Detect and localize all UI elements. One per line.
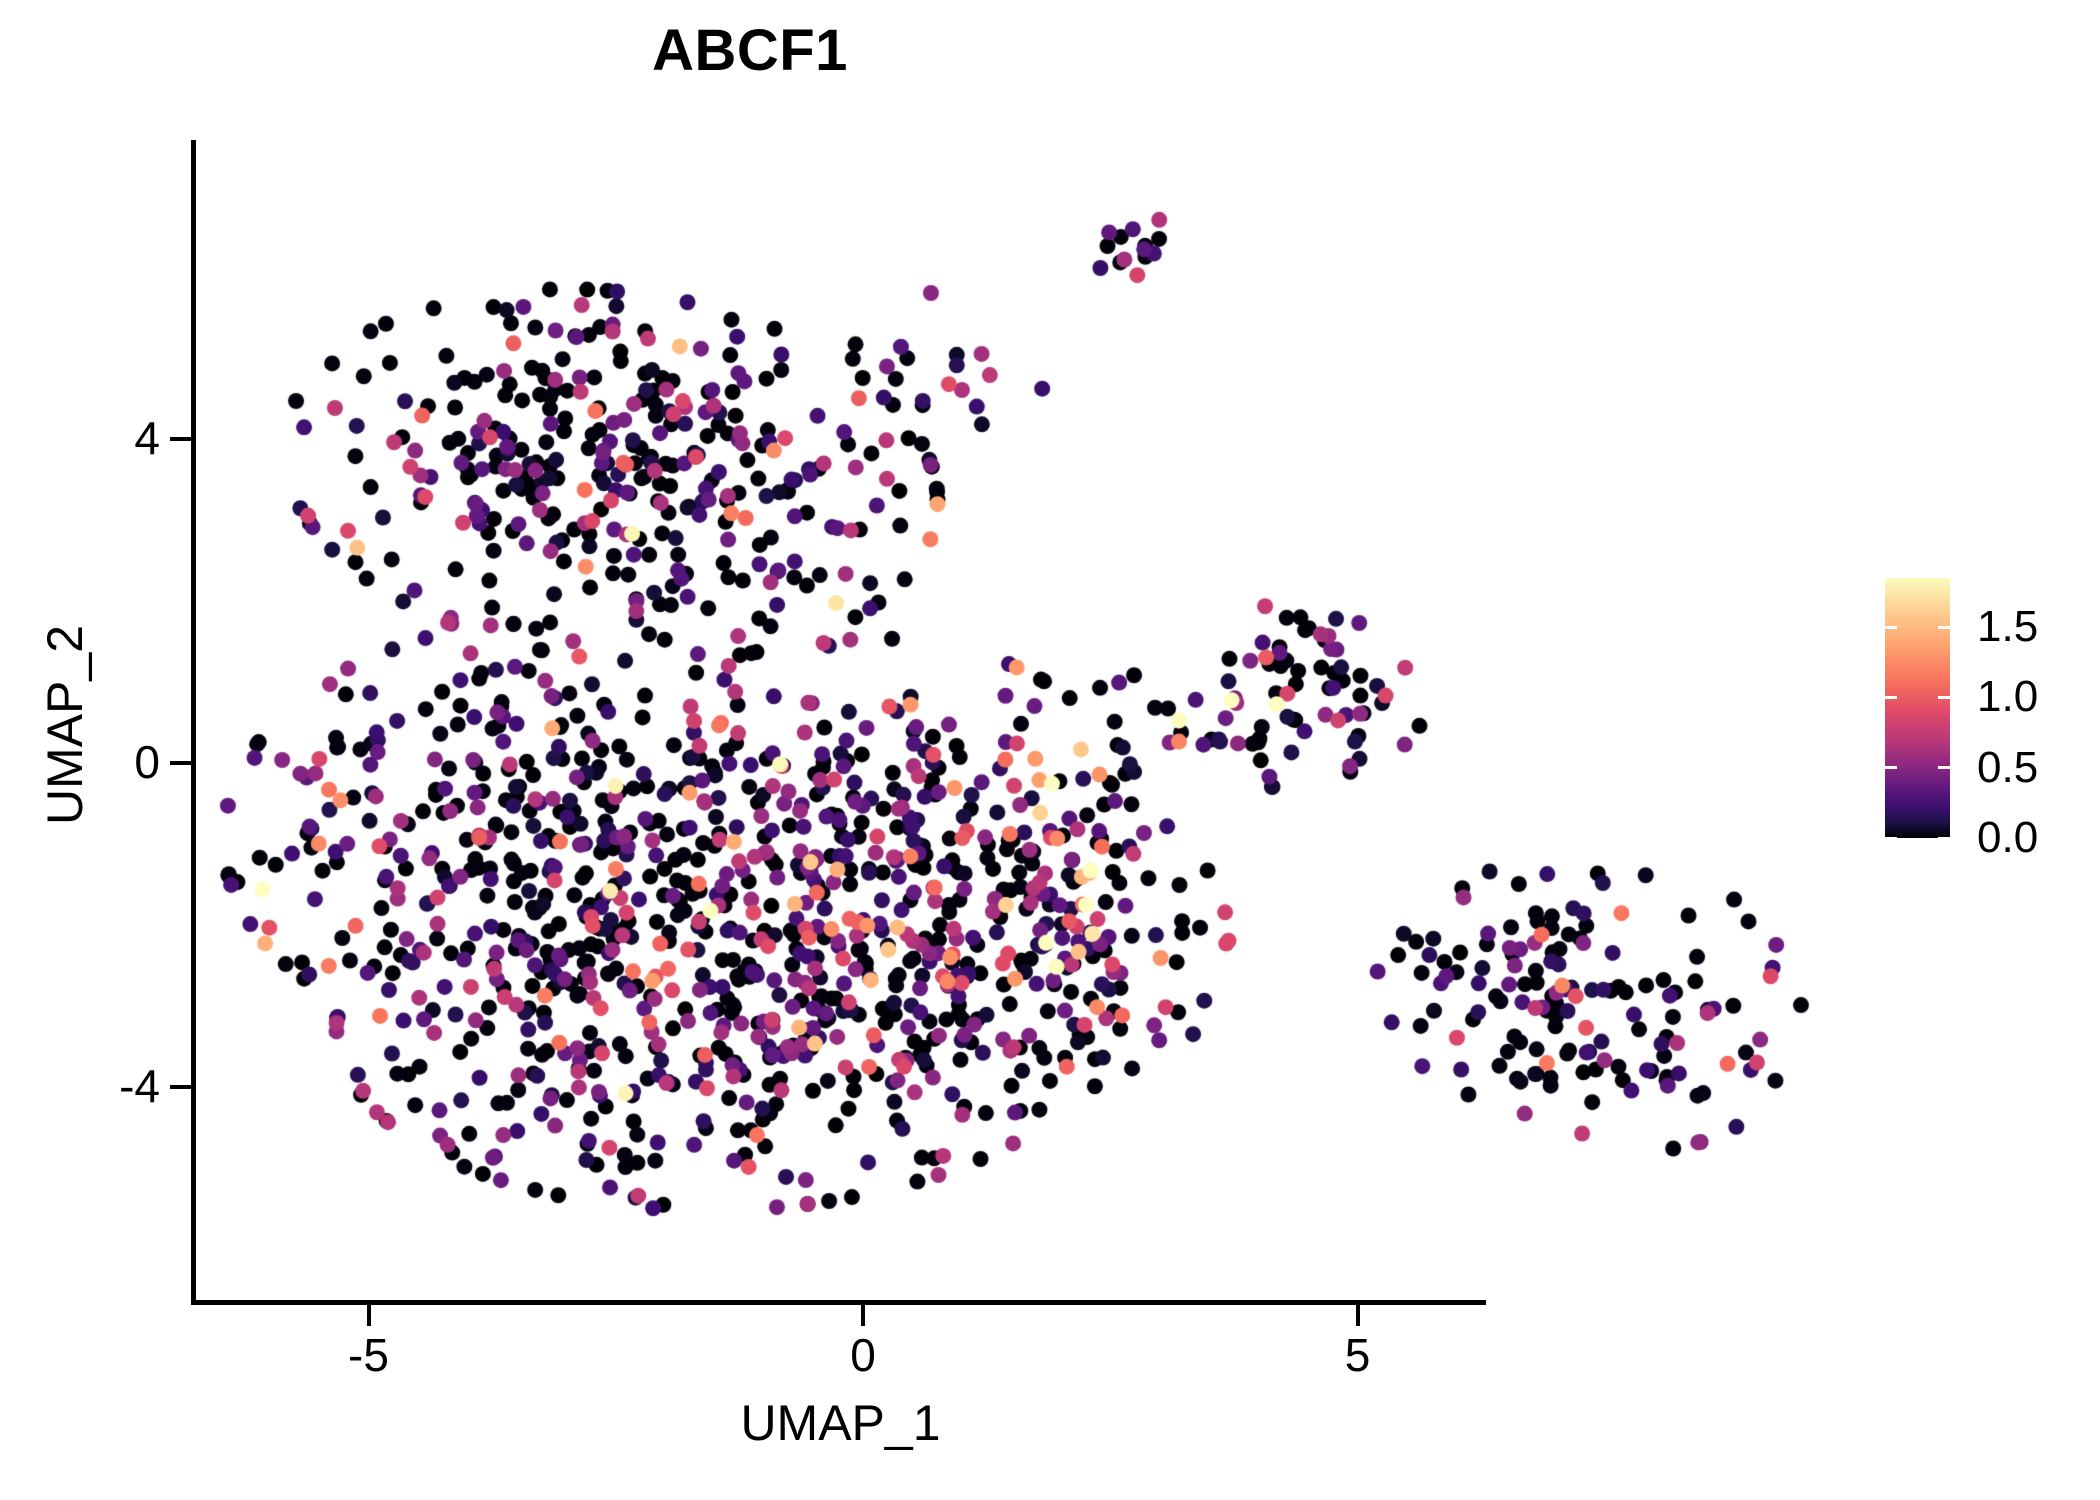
colorbar-gradient bbox=[1885, 578, 1950, 838]
y-axis-tick bbox=[170, 1085, 191, 1089]
x-axis-tick bbox=[1356, 1305, 1360, 1326]
y-axis-tick bbox=[170, 761, 191, 765]
umap-feature-plot: ABCF1 -50540-4 UMAP_1 UMAP_2 1.51.00.50.… bbox=[0, 0, 2100, 1500]
colorbar-tick-label: 1.5 bbox=[1977, 605, 2038, 649]
colorbar-tick-label: 0.0 bbox=[1977, 816, 2038, 860]
colorbar-tick bbox=[1885, 837, 1950, 840]
x-axis-tick-label: 0 bbox=[793, 1332, 933, 1378]
colorbar-tick-label: 1.0 bbox=[1977, 675, 2038, 719]
y-axis-tick bbox=[170, 437, 191, 441]
plot-panel bbox=[193, 140, 1893, 1302]
colorbar-tick bbox=[1885, 766, 1950, 769]
x-axis-tick-label: -5 bbox=[299, 1332, 439, 1378]
colorbar-tick bbox=[1885, 696, 1950, 699]
x-axis-tick bbox=[367, 1305, 371, 1326]
colorbar-legend: 1.51.00.50.0 bbox=[1885, 578, 2085, 838]
x-axis-tick bbox=[861, 1305, 865, 1326]
y-axis-tick-label: -4 bbox=[50, 1063, 160, 1109]
x-axis-label: UMAP_1 bbox=[193, 1398, 1488, 1448]
scatter-points-layer bbox=[193, 140, 1893, 1302]
page-title: ABCF1 bbox=[0, 22, 1500, 80]
x-axis-tick-label: 5 bbox=[1288, 1332, 1428, 1378]
colorbar-tick-label: 0.5 bbox=[1977, 746, 2038, 790]
y-axis-label: UMAP_2 bbox=[40, 445, 90, 1005]
colorbar-tick bbox=[1885, 626, 1950, 629]
